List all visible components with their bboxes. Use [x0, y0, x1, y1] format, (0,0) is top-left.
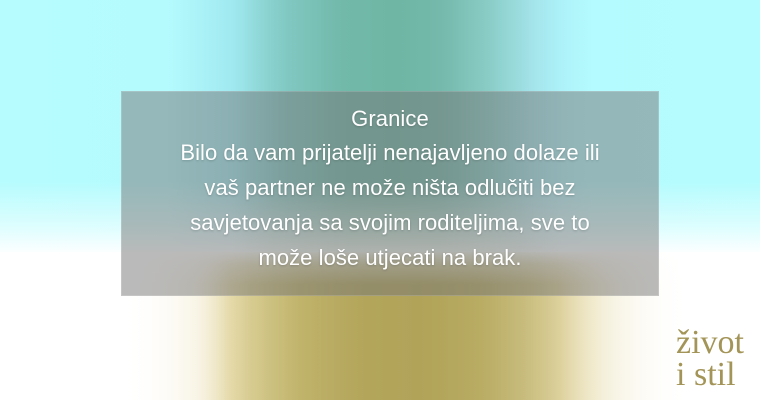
brand-logo-line-2: i stil — [676, 359, 744, 392]
caption-title: Granice — [351, 102, 429, 135]
brand-logo: život i stil — [676, 327, 744, 392]
caption-body: Bilo da vam prijatelji nenajavljeno dola… — [130, 135, 650, 275]
caption-line-4: može loše utjecati na brak. — [130, 240, 650, 275]
caption-line-3: savjetovanja sa svojim roditeljima, sve … — [130, 205, 650, 240]
caption-line-2: vaš partner ne može ništa odlučiti bez — [130, 170, 650, 205]
caption-line-1: Bilo da vam prijatelji nenajavljeno dola… — [130, 135, 650, 170]
caption-panel: Granice Bilo da vam prijatelji nenajavlj… — [121, 91, 659, 296]
brand-logo-line-1: život — [676, 327, 744, 360]
quote-card: Granice Bilo da vam prijatelji nenajavlj… — [0, 0, 760, 400]
